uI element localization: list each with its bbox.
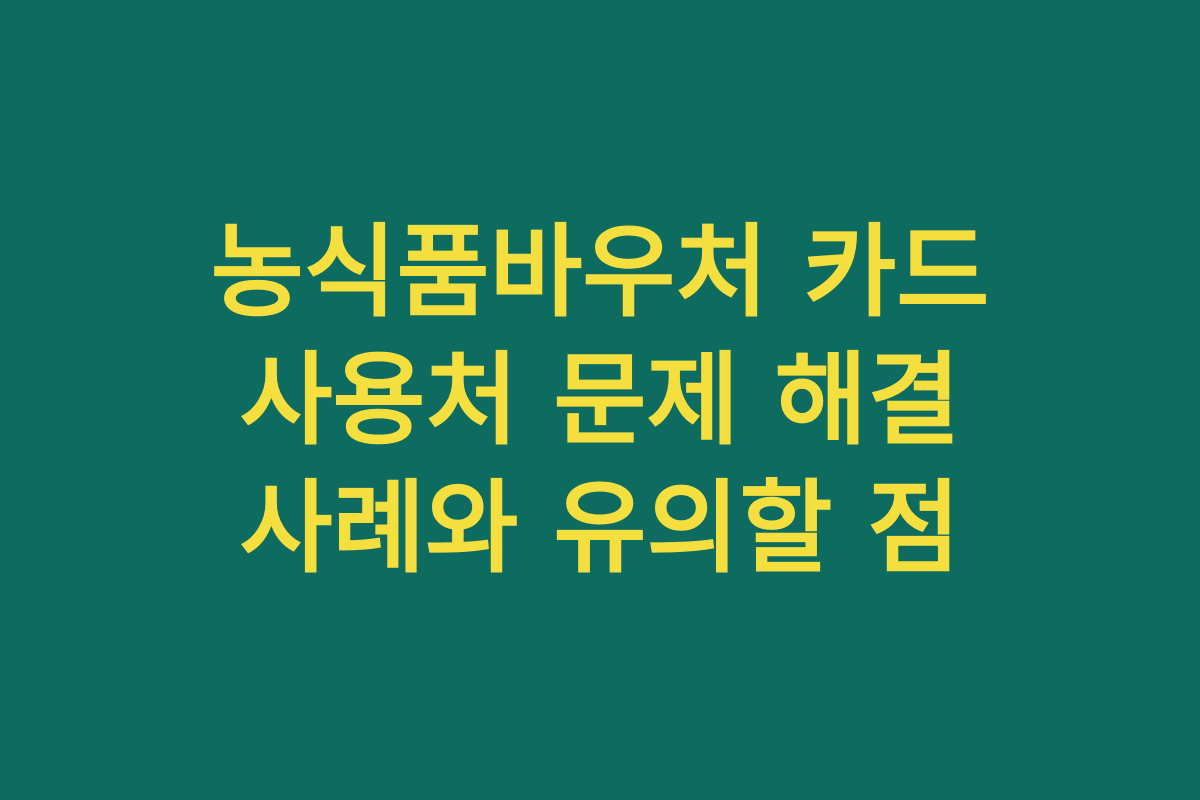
headline-block: 농식품바우처 카드 사용처 문제 해결 사례와 유의할 점 <box>95 208 1105 592</box>
title-card: 농식품바우처 카드 사용처 문제 해결 사례와 유의할 점 <box>0 0 1200 800</box>
page-title: 농식품바우처 카드 사용처 문제 해결 사례와 유의할 점 <box>97 208 1103 592</box>
